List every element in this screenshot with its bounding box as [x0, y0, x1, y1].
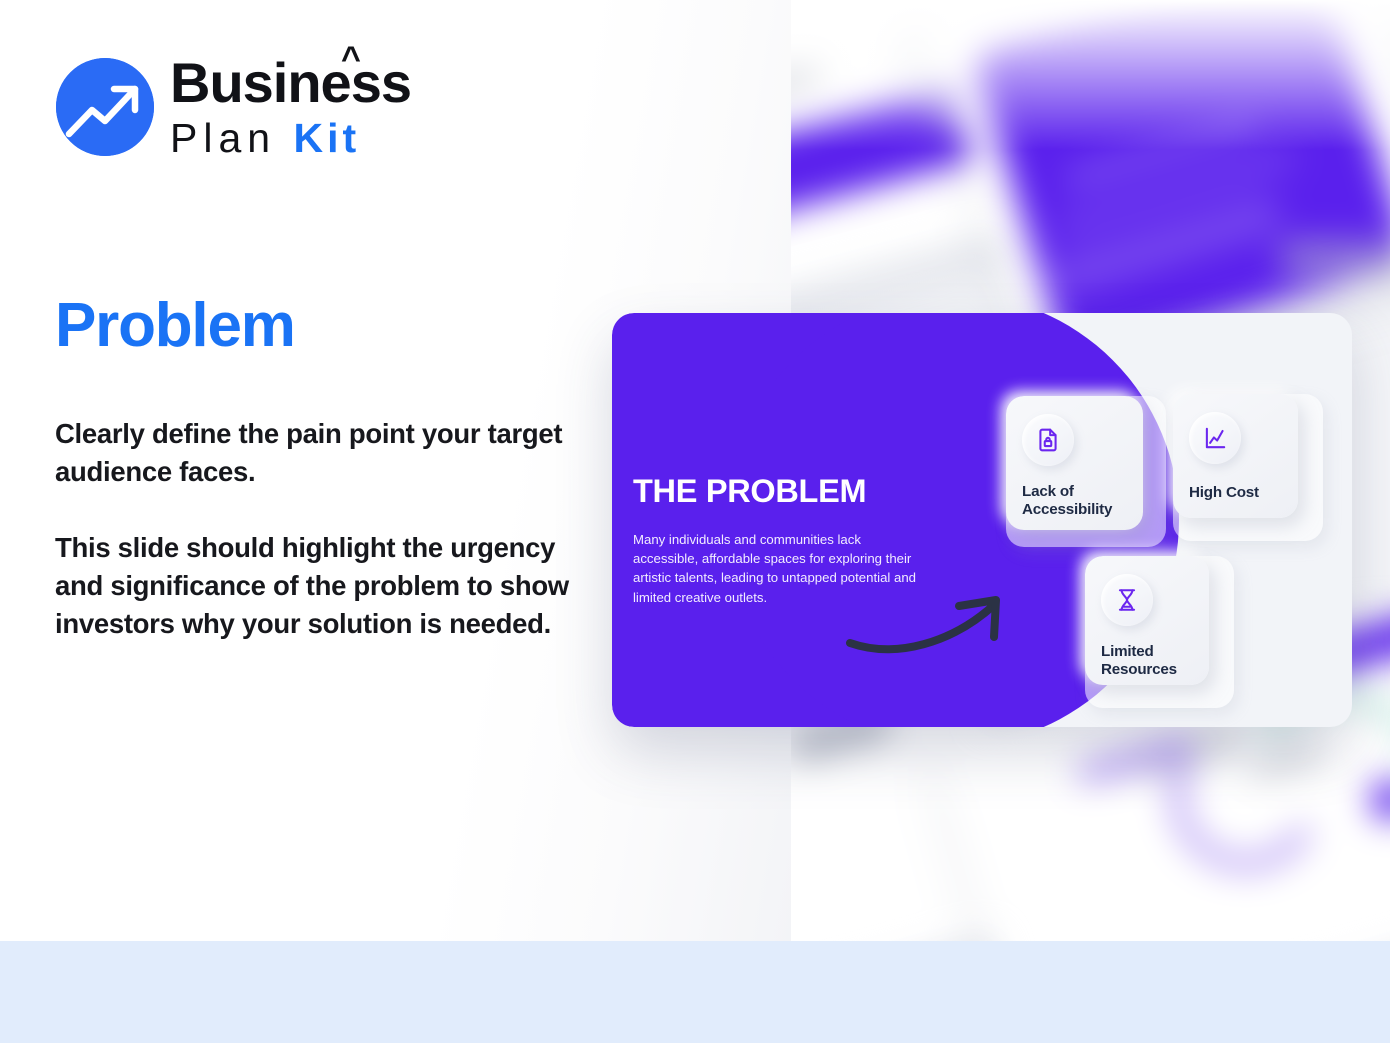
feature-tile-label: Lack of Accessibility	[1022, 483, 1143, 519]
feature-tile-label: High Cost	[1189, 484, 1259, 502]
brand-circumflex-accent: ^	[341, 42, 360, 76]
bottom-accent-band	[0, 941, 1390, 1043]
description-block: Clearly define the pain point your targe…	[55, 415, 585, 643]
feature-tile-high-cost[interactable]: High Cost	[1173, 394, 1298, 518]
hourglass-icon	[1101, 574, 1153, 626]
brand-line-2-plan: Plan	[170, 115, 276, 161]
growth-arrow-chart-icon	[56, 58, 154, 156]
slide-heading: THE PROBLEM	[633, 475, 933, 508]
brand-wordmark: Business ^ Plan Kit	[170, 55, 411, 159]
line-chart-icon	[1189, 412, 1241, 464]
document-lock-icon	[1022, 414, 1074, 466]
feature-tile-lack-of-accessibility[interactable]: Lack of Accessibility	[1006, 396, 1143, 530]
description-paragraph-1: Clearly define the pain point your targe…	[55, 415, 585, 491]
background-top-fade	[791, 0, 1390, 150]
slide-preview-page: Business ^ Plan Kit Problem Clearly defi…	[0, 0, 1390, 1043]
feature-tile-label: Limited Resources	[1101, 643, 1209, 679]
page-title: Problem	[55, 295, 295, 357]
brand-line-2: Plan Kit	[170, 118, 411, 159]
curved-arrow-up-right-icon	[844, 585, 1014, 660]
brand-line-2-kit: Kit	[293, 115, 360, 161]
brand-line-1-text: Business	[170, 51, 411, 114]
description-paragraph-2: This slide should highlight the urgency …	[55, 529, 585, 643]
feature-tile-limited-resources[interactable]: Limited Resources	[1085, 556, 1209, 685]
brand-logo: Business ^ Plan Kit	[56, 55, 411, 159]
brand-line-1: Business ^	[170, 55, 411, 111]
problem-slide-card: THE PROBLEM Many individuals and communi…	[612, 313, 1352, 727]
